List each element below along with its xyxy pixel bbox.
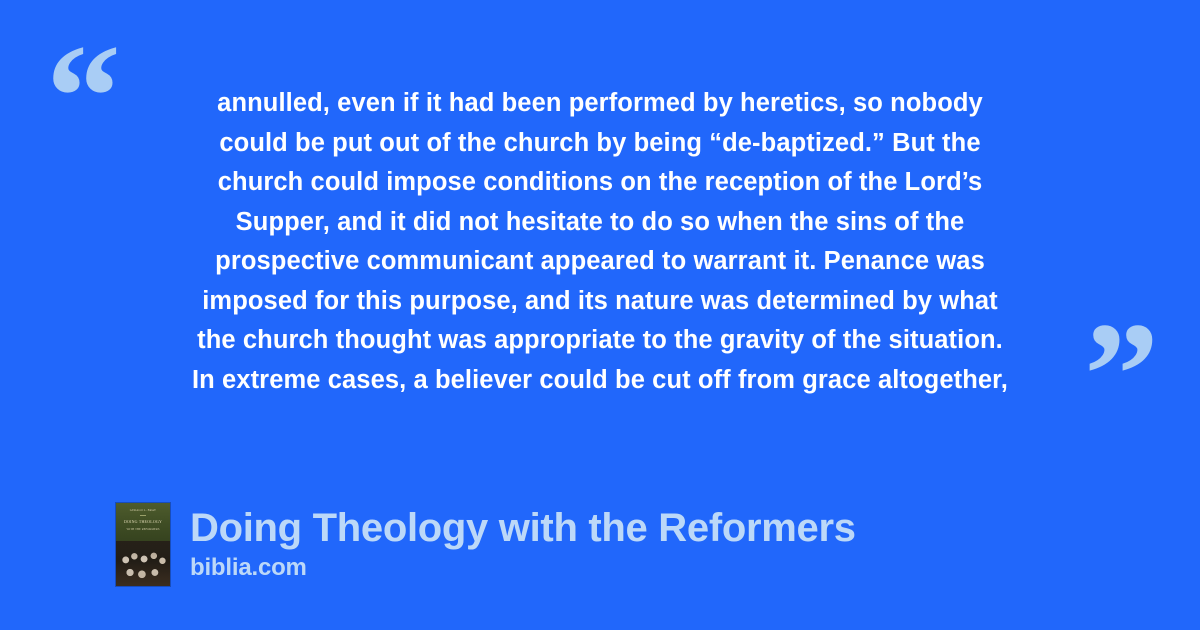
quote-line: the church thought was appropriate to th… (110, 321, 1090, 361)
attribution-footer: GERALD L. BRAY DOING THEOLOGY WITH THE R… (116, 503, 856, 586)
attribution-text-block: Doing Theology with the Reformers biblia… (190, 503, 856, 583)
quote-line: could be put out of the church by being … (110, 124, 1090, 164)
site-name: biblia.com (190, 553, 856, 583)
book-cover-divider (140, 515, 146, 516)
book-cover-artwork-shading (116, 541, 170, 586)
quote-line: prospective communicant appeared to warr… (110, 242, 1090, 282)
quote-line: church could impose conditions on the re… (110, 163, 1090, 203)
book-cover-title: DOING THEOLOGY (117, 520, 168, 524)
book-title: Doing Theology with the Reformers (190, 505, 856, 551)
quote-line: imposed for this purpose, and its nature… (110, 282, 1090, 322)
quote-line: In extreme cases, a believer could be cu… (110, 361, 1090, 401)
quote-line: Supper, and it did not hesitate to do so… (110, 203, 1090, 243)
quote-card: “ annulled, even if it had been performe… (0, 0, 1200, 630)
book-cover-thumbnail: GERALD L. BRAY DOING THEOLOGY WITH THE R… (116, 503, 170, 586)
book-cover-author: GERALD L. BRAY (117, 509, 168, 512)
quote-line: annulled, even if it had been performed … (110, 84, 1090, 124)
closing-quote-icon: ” (1084, 300, 1157, 450)
book-cover-subtitle: WITH THE REFORMERS (117, 528, 168, 531)
quote-body: annulled, even if it had been performed … (110, 84, 1090, 400)
opening-quote-icon: “ (46, 22, 119, 172)
